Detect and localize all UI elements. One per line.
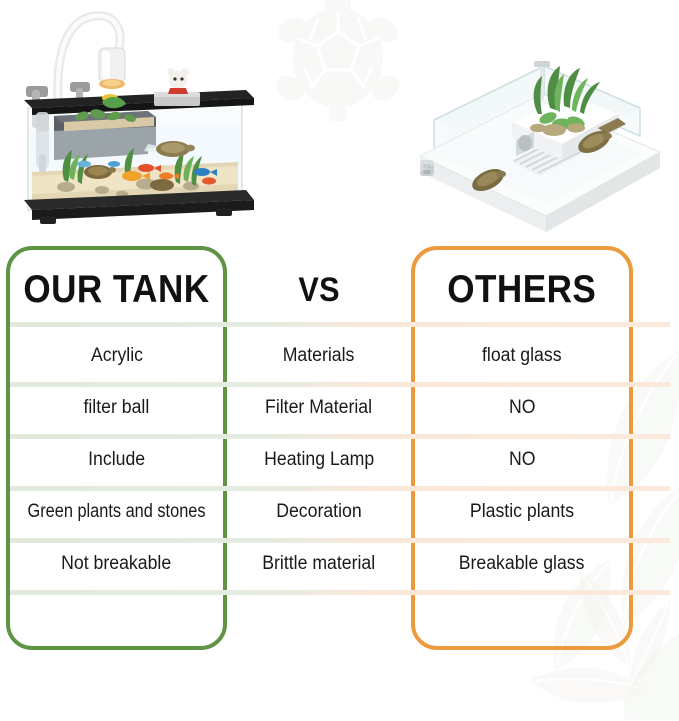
vs-label: VS	[298, 271, 340, 310]
others-header: OTHERS	[413, 262, 631, 318]
our-tank-header-label: OUR TANK	[23, 268, 209, 312]
table-row: filter ball Filter Material NO	[0, 382, 679, 434]
others-cell: NO	[413, 434, 631, 486]
others-header-label: OTHERS	[448, 268, 597, 312]
row-divider	[10, 322, 670, 327]
ours-cell: filter ball	[8, 382, 225, 434]
others-tank-product-photo	[404, 44, 676, 240]
ours-cell: Acrylic	[8, 330, 225, 382]
ours-cell: Green plants and stones	[8, 486, 225, 538]
ours-cell: Not breakable	[8, 538, 225, 590]
table-row: Green plants and stones Decoration Plast…	[0, 486, 679, 538]
vs-header: VS	[229, 262, 409, 318]
feature-cell: Decoration	[229, 486, 409, 538]
feature-cell: Filter Material	[229, 382, 409, 434]
comparison-infographic: OUR TANK VS OTHERS Acrylic Materials flo…	[0, 0, 679, 721]
feature-cell: Brittle material	[229, 538, 409, 590]
ours-cell: Include	[8, 434, 225, 486]
our-tank-header: OUR TANK	[8, 262, 225, 318]
our-tank-product-photo	[6, 4, 276, 238]
others-cell: NO	[413, 382, 631, 434]
others-cell: float glass	[413, 330, 631, 382]
others-cell: Plastic plants	[413, 486, 631, 538]
table-row: Acrylic Materials float glass	[0, 330, 679, 382]
comparison-table: OUR TANK VS OTHERS Acrylic Materials flo…	[0, 240, 679, 655]
table-row: Not breakable Brittle material Breakable…	[0, 538, 679, 590]
row-divider	[10, 590, 670, 595]
feature-cell: Materials	[229, 330, 409, 382]
feature-cell: Heating Lamp	[229, 434, 409, 486]
table-row: Include Heating Lamp NO	[0, 434, 679, 486]
others-cell: Breakable glass	[413, 538, 631, 590]
